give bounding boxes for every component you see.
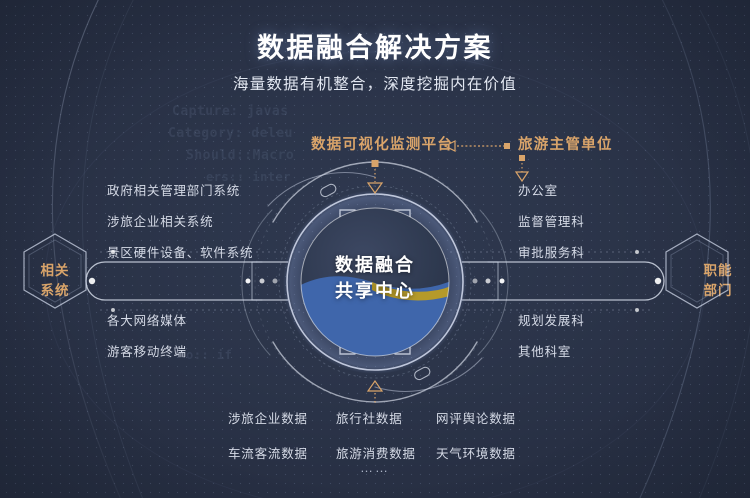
pipe-left <box>86 250 300 312</box>
arrow-connector-dotted <box>445 141 510 151</box>
center-hub-line2: 共享中心 <box>301 278 449 304</box>
marker-right-column <box>516 155 528 181</box>
marker-bottom-center <box>368 381 382 404</box>
hexagon-left <box>24 234 86 308</box>
diagram-graphics <box>0 0 750 498</box>
infographic-canvas: Capture: javasCategory: deleuShould::Mac… <box>0 0 750 498</box>
center-hub-line1: 数据融合 <box>301 252 449 278</box>
pipe-right <box>450 250 664 312</box>
hexagon-right <box>666 234 728 308</box>
center-hub-label: 数据融合 共享中心 <box>301 252 449 304</box>
